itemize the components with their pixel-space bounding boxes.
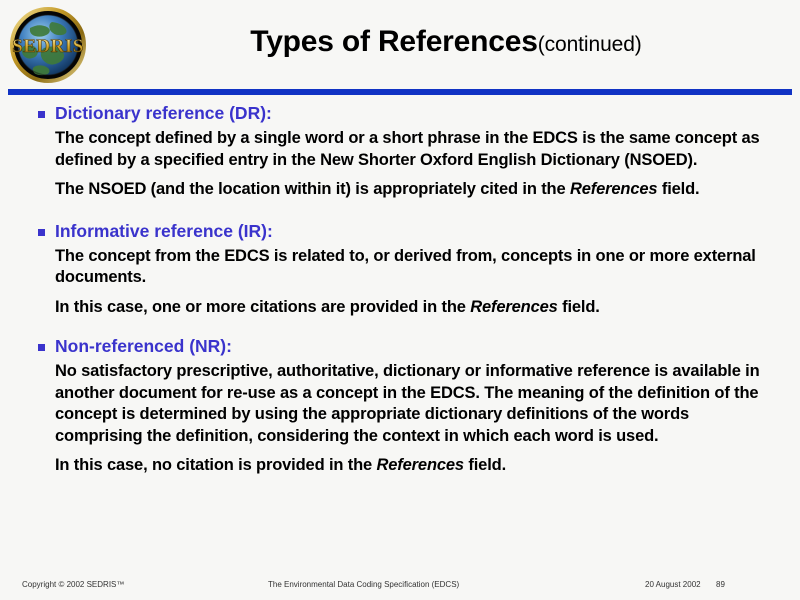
section-informative-reference: Informative reference (IR): The concept … [0,221,800,319]
paragraph: In this case, one or more citations are … [0,297,800,319]
footer-copyright: Copyright © 2002 SEDRIS™ [22,580,124,589]
bullet-title-text: Informative reference (IR): [55,221,273,241]
bullet-title-text: Non-referenced (NR): [55,336,232,356]
section-dictionary-reference: Dictionary reference (DR): The concept d… [0,103,800,201]
section-spacer [0,322,800,336]
square-bullet-icon [38,229,45,236]
slide-content: Dictionary reference (DR): The concept d… [0,103,800,563]
paragraph: In this case, no citation is provided in… [0,455,800,477]
bullet-heading-informative-reference: Informative reference (IR): [0,221,800,241]
bullet-title-text: Dictionary reference (DR): [55,103,272,123]
footer-date: 20 August 2002 [645,580,701,589]
slide-title-sub: (continued) [538,33,642,56]
footer-document-title: The Environmental Data Coding Specificat… [268,580,459,589]
svg-text:SEDRIS: SEDRIS [12,36,84,57]
paragraph: The concept from the EDCS is related to,… [0,246,800,289]
sedris-logo-icon: SEDRIS [6,6,90,84]
bullet-heading-non-referenced: Non-referenced (NR): [0,336,800,356]
square-bullet-icon [38,344,45,351]
bullet-heading-dictionary-reference: Dictionary reference (DR): [0,103,800,123]
section-spacer [0,205,800,221]
section-non-referenced: Non-referenced (NR): No satisfactory pre… [0,336,800,477]
slide-footer: Copyright © 2002 SEDRIS™ The Environment… [0,570,800,600]
header-divider [8,89,792,95]
footer-page-number: 89 [716,580,725,589]
paragraph: The NSOED (and the location within it) i… [0,179,800,201]
slide-header: SEDRIS Types of References(continued) [0,0,800,92]
slide-title-main: Types of References [250,25,537,58]
slide-title: Types of References(continued) [100,0,792,88]
paragraph: The concept defined by a single word or … [0,128,800,171]
paragraph: No satisfactory prescriptive, authoritat… [0,361,800,447]
square-bullet-icon [38,111,45,118]
